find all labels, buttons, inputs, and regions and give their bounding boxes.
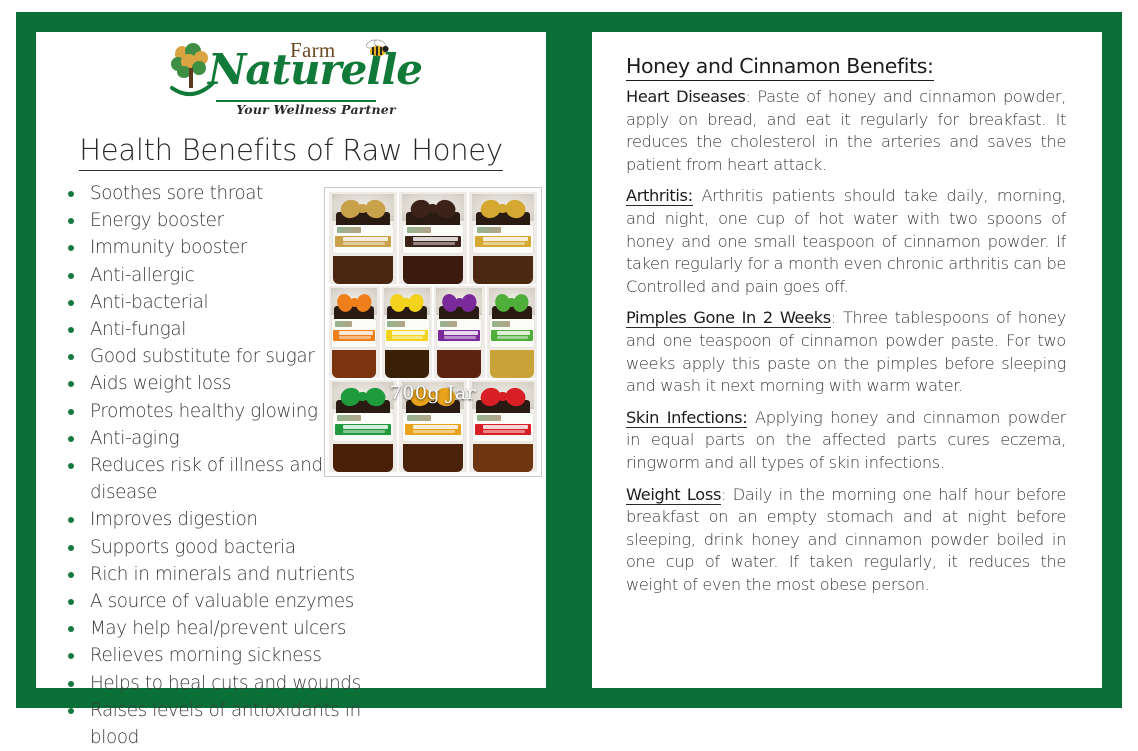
- honey-jar: [487, 286, 538, 378]
- section-body: Arthritis patients should take daily, mo…: [626, 186, 1066, 295]
- honey-jar: [382, 286, 433, 378]
- bee-icon: [364, 38, 390, 60]
- section-term: Arthritis:: [626, 186, 693, 206]
- right-panel: Honey and Cinnamon Benefits: Heart Disea…: [592, 32, 1102, 688]
- honey-jar: [434, 286, 485, 378]
- section-term: Weight Loss: [626, 485, 721, 505]
- left-panel: Naturelle Farm Your Wellness Partner Hea…: [36, 32, 546, 688]
- benefit-item: Improves digestion: [46, 506, 376, 533]
- right-panel-body: Honey and Cinnamon Benefits: Heart Disea…: [626, 54, 1066, 596]
- benefit-item: Relieves morning sickness: [46, 642, 376, 669]
- logo-tagline: Your Wellness Partner: [226, 102, 406, 117]
- brand-logo: Naturelle Farm Your Wellness Partner: [36, 38, 546, 128]
- page-title: Health Benefits of Raw Honey: [36, 133, 546, 167]
- benefit-item: Supports good bacteria: [46, 534, 376, 561]
- jar-grid: [329, 192, 537, 472]
- right-panel-heading: Honey and Cinnamon Benefits:: [626, 54, 934, 81]
- benefit-sections: Heart Diseases: Paste of honey and cinna…: [626, 86, 1066, 596]
- benefit-item: Raises levels of antioxidants in blood: [46, 697, 376, 751]
- honey-jar: [399, 192, 467, 284]
- benefit-section: Skin Infections: Applying honey and cinn…: [626, 407, 1066, 475]
- honey-jar: [329, 192, 397, 284]
- benefit-section: Weight Loss: Daily in the morning one ha…: [626, 484, 1066, 597]
- section-term: Heart Diseases: [626, 87, 745, 106]
- jar-row-middle: [329, 286, 537, 378]
- benefit-section: Pimples Gone In 2 Weeks: Three tablespoo…: [626, 307, 1066, 397]
- poster-canvas: Naturelle Farm Your Wellness Partner Hea…: [0, 0, 1138, 738]
- benefit-item: May help heal/prevent ulcers: [46, 615, 376, 642]
- honey-jar: [329, 286, 380, 378]
- benefit-item: A source of valuable enzymes: [46, 588, 376, 615]
- benefit-section: Arthritis: Arthritis patients should tak…: [626, 185, 1066, 298]
- jar-row-top: [329, 192, 537, 284]
- honey-jar: [469, 192, 537, 284]
- benefit-item: Helps to heal cuts and wounds: [46, 670, 376, 697]
- product-photo-caption: 700g Jar: [325, 382, 541, 404]
- section-term: Skin Infections:: [626, 408, 747, 428]
- logo-farm-word: Farm: [290, 38, 336, 63]
- benefit-item: Rich in minerals and nutrients: [46, 561, 376, 588]
- product-photo-honey-jars: 700g Jar: [324, 187, 542, 477]
- page-title-text: Health Benefits of Raw Honey: [79, 133, 502, 171]
- benefit-section: Heart Diseases: Paste of honey and cinna…: [626, 86, 1066, 176]
- section-term: Pimples Gone In 2 Weeks: [626, 308, 831, 328]
